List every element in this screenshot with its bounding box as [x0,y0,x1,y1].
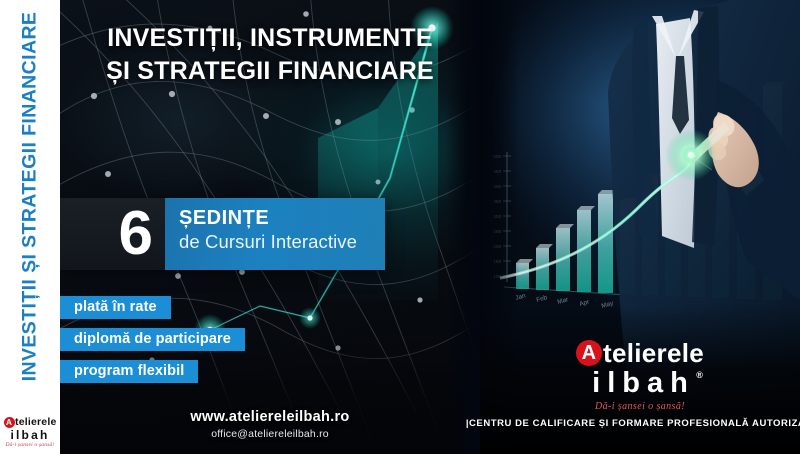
brand-logo[interactable]: Atelierele ilbah® Dă-i șansei o șansă! [480,340,800,412]
sidebar-logo[interactable]: Atelierele ilbah Dă-i șansei o șansă! [0,417,60,448]
page-title-line1: INVESTIȚII, INSTRUMENTE [60,22,480,55]
page-title-line2: ȘI STRATEGII FINANCIARE [60,55,480,88]
feature-tag-row: plată în rate [60,296,245,328]
sessions-badge: 6 ȘEDINȚE de Cursuri Interactive [60,198,385,270]
feature-tag-plata-in-rate: plată în rate [60,296,171,319]
logo-a-mark-icon: A [4,417,15,428]
brand-logo-word2: ilbah® [585,369,695,398]
website-url[interactable]: www.ateliereleilbah.ro [60,408,480,426]
feature-tag-program-flexibil: program flexibil [60,360,198,383]
feature-tag-list: plată în rate diplomă de participare pro… [60,296,245,392]
sessions-badge-number-box: 6 [60,198,165,270]
authorization-strip: |CENTRU DE CALIFICARE ȘI FORMARE PROFESI… [480,412,800,434]
svg-text:Feb: Feb [536,294,549,304]
sidebar-logo-word2: ilbah [0,429,60,441]
feature-tag-row: diplomă de participare [60,328,245,360]
sessions-badge-line1: ȘEDINȚE [179,207,375,229]
sidebar-logo-word1: telierele [15,417,57,428]
feature-tag-diploma-de-participare: diplomă de participare [60,328,245,351]
sessions-badge-number: 6 [119,203,153,265]
sessions-badge-text-box: ȘEDINȚE de Cursuri Interactive [165,198,385,270]
brand-logo-a-mark-icon: A [576,340,602,366]
brand-logo-word1: telierele [603,340,704,366]
brand-logo-word2-text: ilbah [592,367,695,399]
email-address[interactable]: office@ateliereleilbah.ro [60,427,480,441]
promo-banner: 500 450 400 350 300 250 200 150 100 [0,0,800,454]
brand-logo-row1: Atelierele [480,340,800,366]
authorization-strip-text: |CENTRU DE CALIFICARE ȘI FORMARE PROFESI… [466,418,800,429]
registered-mark-icon: ® [696,371,703,380]
sidebar-logo-tagline: Dă-i șansei o șansă! [0,443,60,449]
sidebar-vertical-title: INVESTIȚII ȘI STRATEGII FINANCIARE [0,0,60,392]
page-title: INVESTIȚII, INSTRUMENTE ȘI STRATEGII FIN… [60,22,480,88]
sidebar-vertical-title-text: INVESTIȚII ȘI STRATEGII FINANCIARE [19,11,42,381]
brand-logo-tagline: Dă-i șansei o șansă! [480,402,800,412]
sidebar-logo-row1: Atelierele [0,417,60,428]
left-sidebar: INVESTIȚII ȘI STRATEGII FINANCIARE Ateli… [0,0,60,454]
feature-tag-row: program flexibil [60,360,245,392]
contact-block: www.ateliereleilbah.ro office@atelierele… [60,408,480,441]
sessions-badge-line2: de Cursuri Interactive [179,231,375,252]
